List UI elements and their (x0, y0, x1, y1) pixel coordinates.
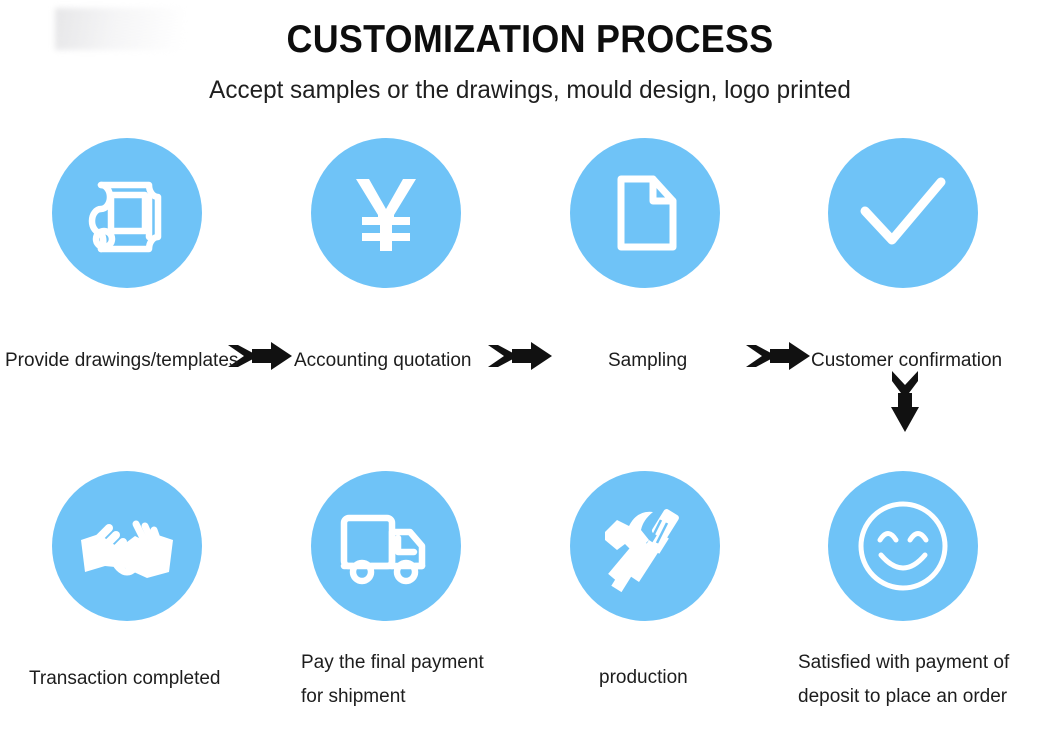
step-3-icon-circle[interactable] (570, 138, 720, 288)
step-5-icon-circle[interactable] (828, 471, 978, 621)
step-5-label: Satisfied with payment of deposit to pla… (798, 646, 1058, 714)
page-title: CUSTOMIZATION PROCESS (42, 0, 1017, 62)
step-2-icon-circle[interactable] (311, 138, 461, 288)
step-1-icon-circle[interactable] (52, 138, 202, 288)
page-subtitle: Accept samples or the drawings, mould de… (16, 62, 1044, 105)
process-row-bottom (0, 471, 1060, 621)
delivery-truck-icon (336, 496, 436, 596)
step-4-label: Customer confirmation (811, 344, 1056, 378)
step-1-label: Provide drawings/templates (5, 344, 265, 378)
step-2-label: Accounting quotation (294, 344, 544, 378)
step-7-label: Pay the final payment for shipment (301, 646, 531, 714)
step-8-label: Transaction completed (29, 662, 279, 696)
arrow-down-icon (887, 369, 923, 435)
smiley-face-icon (849, 492, 957, 600)
document-page-icon (597, 165, 693, 261)
yen-currency-icon (338, 165, 434, 261)
hammer-screwdriver-icon (595, 496, 695, 596)
process-row-top (0, 138, 1060, 288)
step-4-icon-circle[interactable] (828, 138, 978, 288)
blueprint-scroll-icon (79, 165, 175, 261)
step-3-label: Sampling (608, 344, 808, 378)
customization-process-infographic: CUSTOMIZATION PROCESS Accept samples or … (0, 0, 1060, 744)
handshake-icon (75, 494, 179, 598)
checkmark-icon (851, 161, 955, 265)
header: CUSTOMIZATION PROCESS Accept samples or … (0, 0, 1060, 105)
step-8-icon-circle[interactable] (52, 471, 202, 621)
step-7-icon-circle[interactable] (311, 471, 461, 621)
step-6-icon-circle[interactable] (570, 471, 720, 621)
step-6-label: production (599, 661, 799, 695)
